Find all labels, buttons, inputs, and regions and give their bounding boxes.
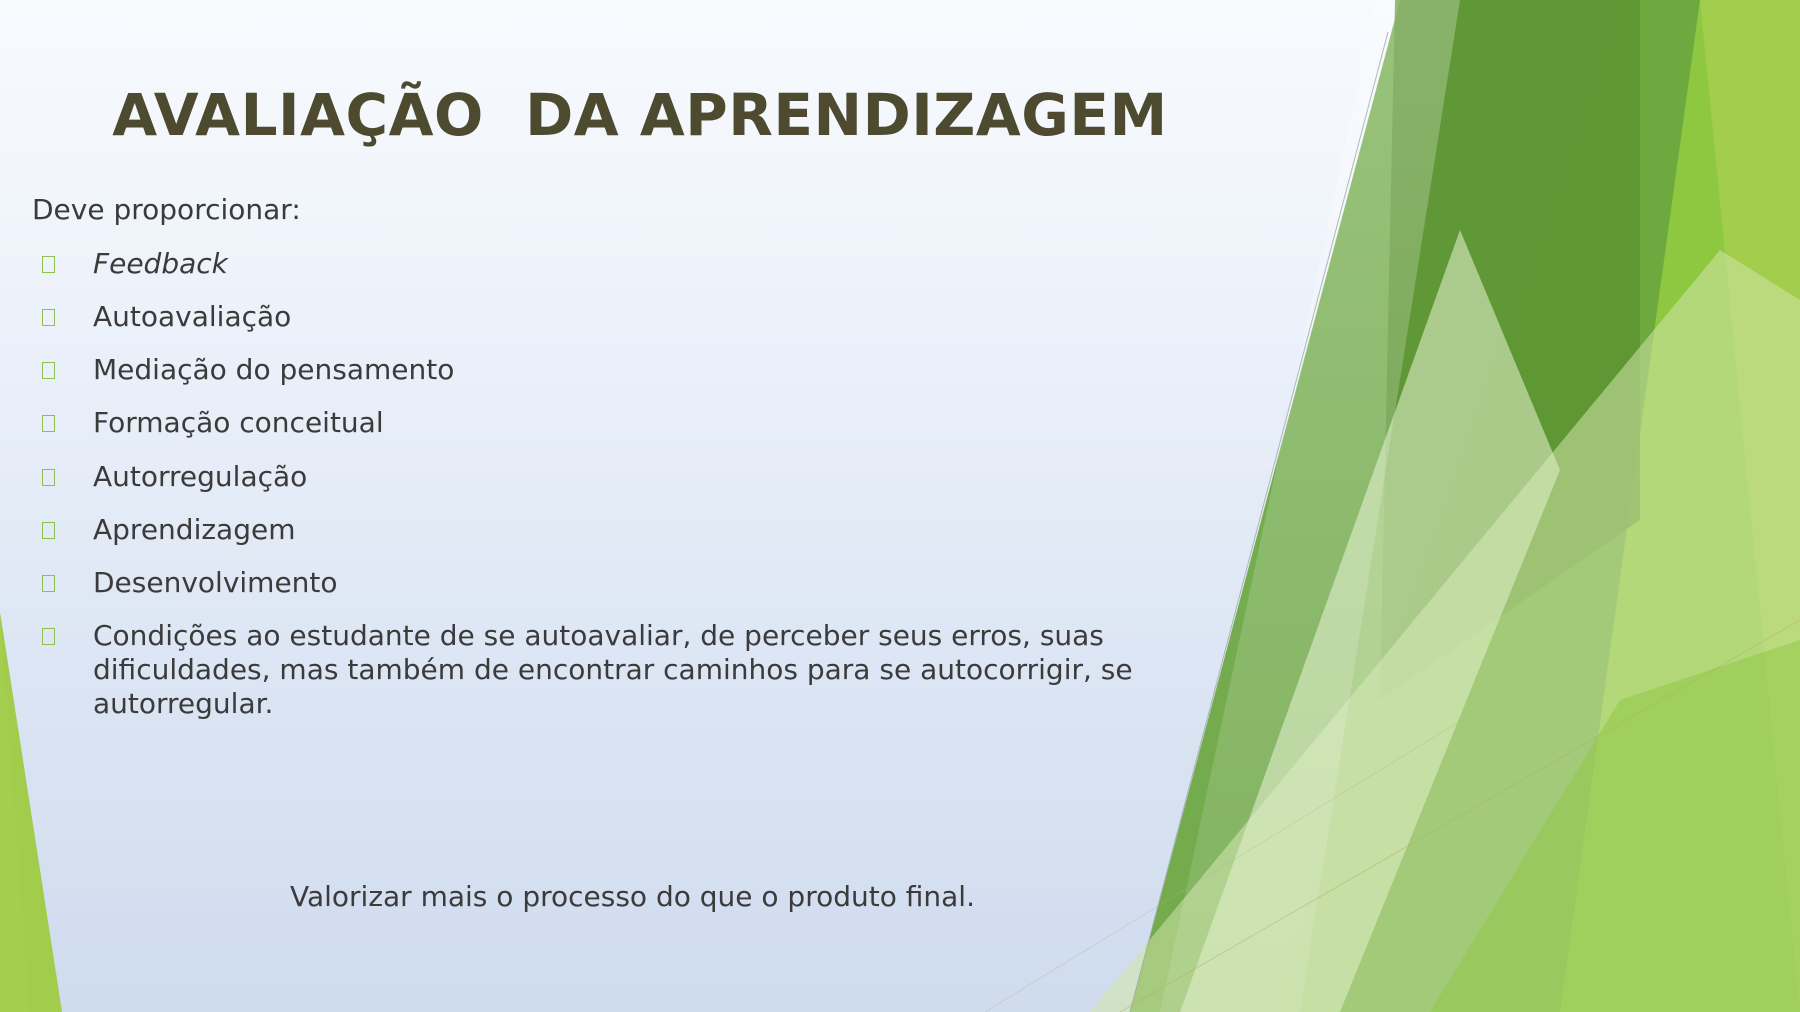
- bullet-list: Feedback Autoavaliação Mediação do pensa…: [30, 247, 1230, 722]
- list-item: Desenvolvimento: [30, 566, 1230, 600]
- list-item: Mediação do pensamento: [30, 353, 1230, 387]
- empty-square-bullet-icon: [42, 309, 55, 326]
- slide-canvas: AVALIAÇÃO DA APRENDIZAGEM Deve proporcio…: [0, 0, 1800, 1012]
- list-item-label: Feedback: [93, 247, 1230, 281]
- list-item: Autorregulação: [30, 460, 1230, 494]
- list-item-label: Autorregulação: [93, 460, 1230, 494]
- list-item-label: Mediação do pensamento: [93, 353, 1230, 387]
- deep-green-shape: [1380, 0, 1640, 700]
- bright-green-column: [1270, 0, 1800, 1012]
- empty-square-bullet-icon: [42, 575, 55, 592]
- empty-square-bullet-icon: [42, 522, 55, 539]
- list-item: Formação conceitual: [30, 406, 1230, 440]
- empty-square-bullet-icon: [42, 415, 55, 432]
- intro-text: Deve proporcionar:: [30, 192, 1230, 227]
- closing-statement: Valorizar mais o processo do que o produ…: [80, 880, 1185, 913]
- page-title: AVALIAÇÃO DA APRENDIZAGEM: [60, 84, 1220, 148]
- content-body: Deve proporcionar: Feedback Autoavaliaçã…: [30, 192, 1230, 722]
- empty-square-bullet-icon: [42, 256, 55, 273]
- pale-green-sliver: [1180, 230, 1560, 1012]
- list-item: Autoavaliação: [30, 300, 1230, 334]
- list-item-label: Desenvolvimento: [93, 566, 1230, 600]
- empty-square-bullet-icon: [42, 362, 55, 379]
- list-item-label: Formação conceitual: [93, 406, 1230, 440]
- list-item-label: Aprendizagem: [93, 513, 1230, 547]
- list-item: Feedback: [30, 247, 1230, 281]
- list-item-label: Condições ao estudante de se autoavaliar…: [93, 619, 1230, 721]
- right-lower-shade: [1430, 640, 1800, 1012]
- right-green-band: [1430, 0, 1800, 1012]
- list-item: Aprendizagem: [30, 513, 1230, 547]
- list-item: Condições ao estudante de se autoavaliar…: [30, 619, 1230, 721]
- empty-square-bullet-icon: [42, 628, 55, 645]
- list-item-label: Autoavaliação: [93, 300, 1230, 334]
- empty-square-bullet-icon: [42, 469, 55, 486]
